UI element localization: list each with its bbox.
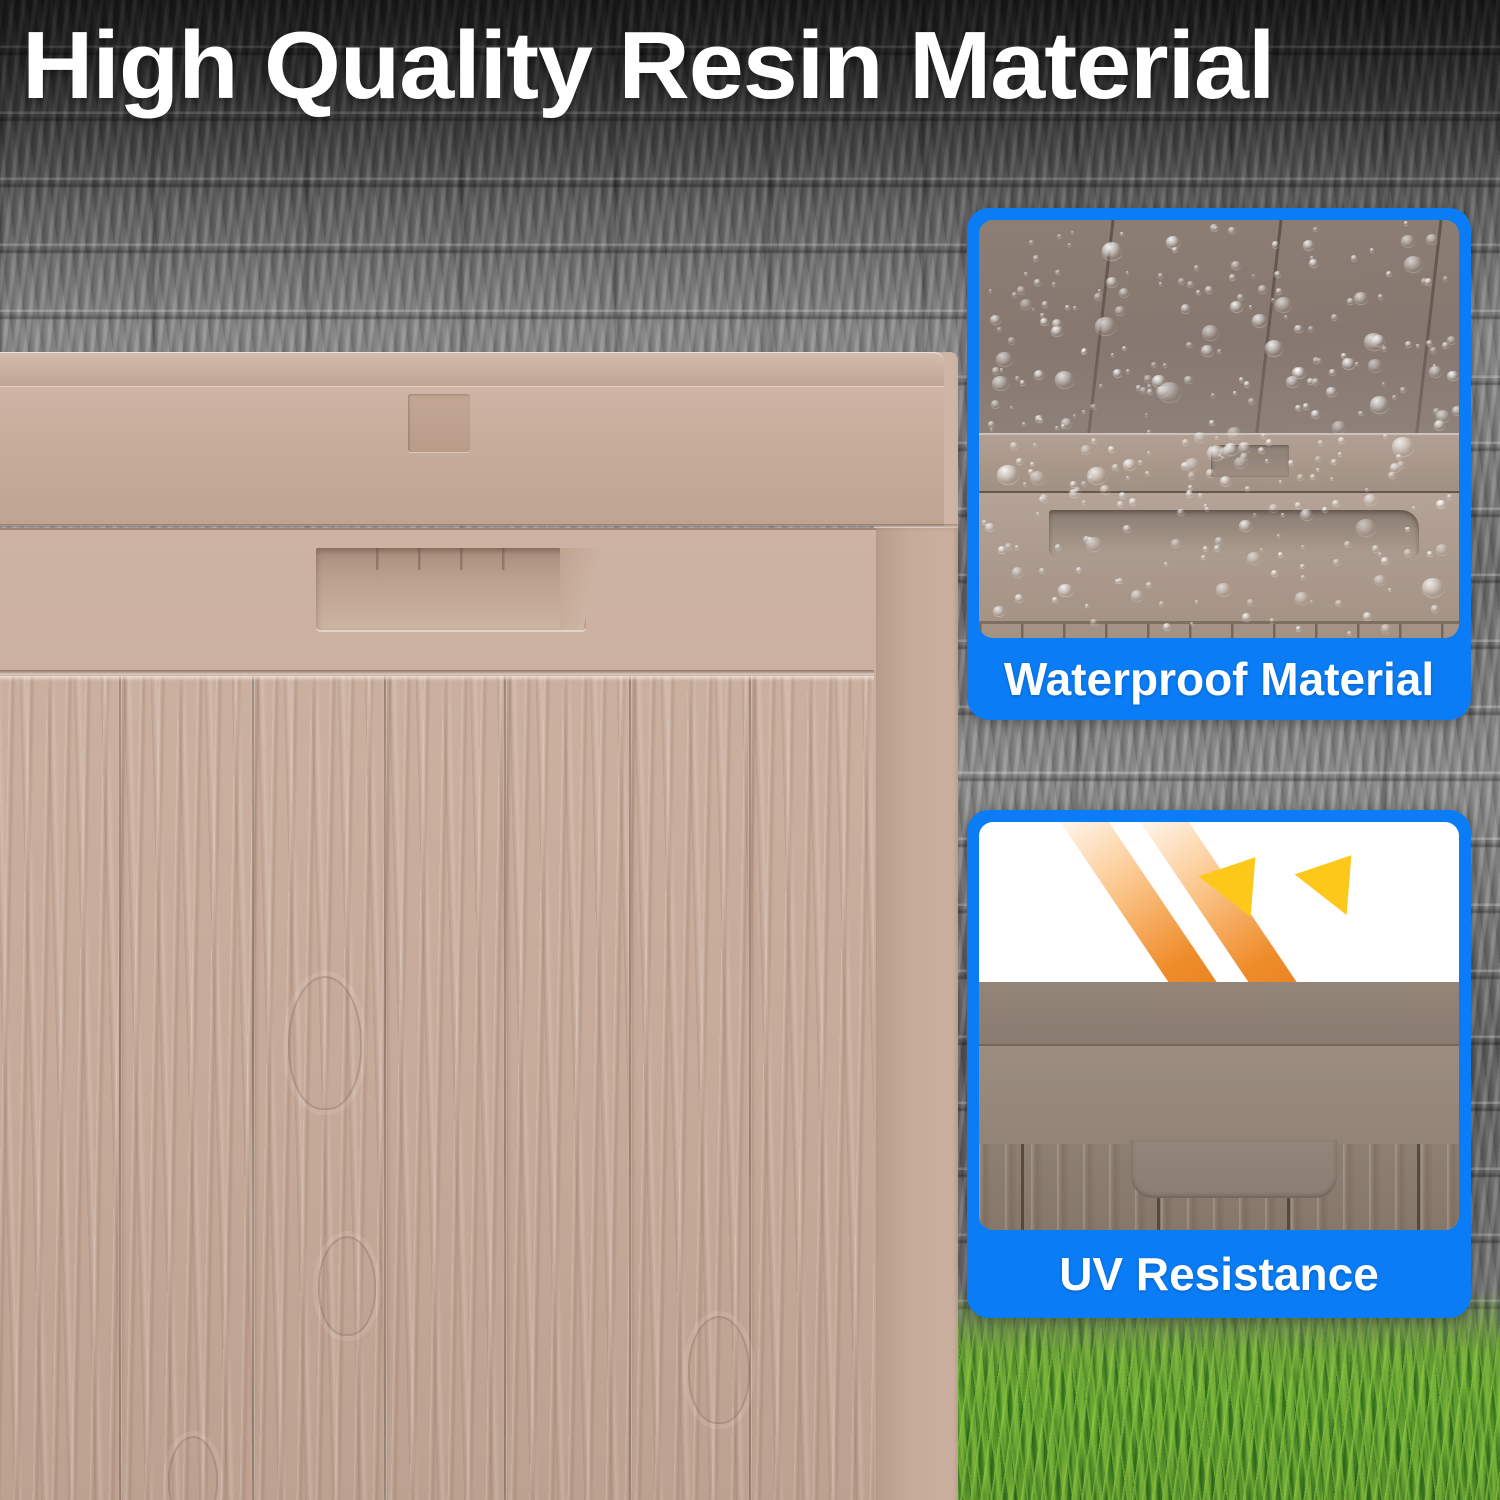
water-droplet [1201, 345, 1213, 356]
water-droplet [1039, 497, 1043, 501]
water-droplet [1166, 236, 1180, 248]
water-droplet [1233, 391, 1237, 395]
water-droplet [1242, 613, 1251, 621]
water-droplet [1016, 458, 1022, 463]
water-droplet [1082, 348, 1087, 352]
water-droplet [1431, 605, 1439, 612]
water-droplet [1427, 551, 1432, 556]
water-droplet [1270, 618, 1275, 622]
water-droplet [1129, 498, 1136, 504]
water-droplet [1095, 317, 1115, 335]
water-droplet [1218, 454, 1222, 457]
water-droplet [982, 520, 986, 524]
water-droplet [1206, 469, 1215, 477]
water-droplet [1297, 474, 1304, 480]
water-droplet [1271, 570, 1278, 576]
water-droplet [1201, 555, 1205, 559]
water-droplet [1404, 549, 1412, 556]
water-droplet [1265, 340, 1283, 356]
water-droplet [1386, 271, 1392, 276]
uv-plank-seam [1021, 1144, 1024, 1230]
water-droplet [1205, 507, 1209, 510]
water-droplet [1194, 265, 1200, 270]
water-droplet [1074, 487, 1081, 493]
water-droplet [1073, 306, 1076, 309]
wood-knot [318, 1236, 376, 1336]
water-droplet [1164, 562, 1168, 565]
water-droplet [1244, 381, 1251, 387]
water-droplet [1342, 358, 1354, 369]
water-droplet [1363, 612, 1372, 620]
water-droplet [1061, 424, 1066, 428]
water-droplet [1438, 500, 1445, 506]
water-droplet [1276, 288, 1283, 294]
water-droplet [1240, 453, 1248, 460]
water-droplet [1316, 468, 1320, 472]
water-droplet [1207, 445, 1225, 460]
water-droplet [1388, 588, 1391, 591]
water-droplet [1347, 298, 1353, 303]
water-droplet [1364, 494, 1377, 505]
plank [0, 676, 122, 1500]
water-droplet [1326, 387, 1336, 396]
water-droplet [1058, 584, 1073, 597]
plank [119, 676, 255, 1500]
water-droplet [1115, 306, 1125, 315]
water-droplet [1381, 624, 1391, 632]
water-droplet [1024, 272, 1027, 275]
water-droplet [1315, 456, 1321, 461]
deck-box-product [0, 352, 974, 1442]
uv-plank-seam [1417, 1144, 1420, 1230]
water-droplet [1374, 575, 1386, 586]
water-droplet [1269, 504, 1278, 512]
water-droplet [1313, 227, 1317, 231]
water-droplet [1070, 481, 1076, 487]
water-droplet [998, 546, 1006, 553]
water-droplet [1185, 458, 1200, 471]
water-droplet [1012, 567, 1023, 577]
water-droplet [1308, 326, 1314, 331]
lock-tab [408, 394, 470, 452]
water-droplet [1397, 461, 1405, 468]
water-droplet [1033, 443, 1037, 446]
water-droplet [1378, 294, 1384, 299]
water-droplet [1372, 545, 1379, 551]
plank [384, 676, 507, 1500]
water-droplet [996, 352, 1013, 366]
water-droplet [1203, 546, 1208, 551]
water-droplet [1217, 349, 1222, 353]
water-droplet [1181, 304, 1191, 312]
water-droplet [1358, 411, 1364, 416]
water-droplet [997, 465, 1019, 484]
water-droplet [1381, 557, 1389, 564]
water-droplet [1286, 376, 1299, 387]
water-droplet [1196, 290, 1201, 294]
water-droplet [1252, 314, 1267, 327]
plank [504, 676, 632, 1500]
water-droplet [1275, 297, 1292, 311]
water-droplet [1452, 406, 1459, 415]
water-droplet [985, 523, 995, 532]
water-droplet [1295, 502, 1302, 508]
box-lid-top [0, 352, 944, 388]
water-droplet [1055, 371, 1074, 387]
water-droplet [1310, 474, 1315, 479]
water-droplet [1195, 600, 1198, 603]
water-droplet [1436, 544, 1448, 555]
water-droplet [1404, 256, 1423, 272]
water-droplet [1030, 462, 1034, 466]
water-droplet [1296, 626, 1302, 631]
water-droplet [1145, 471, 1150, 475]
water-droplet [1231, 261, 1241, 269]
water-droplet [1303, 403, 1310, 409]
wood-knot [288, 976, 362, 1110]
wood-knot [688, 1316, 750, 1424]
water-droplet [1020, 380, 1025, 385]
water-droplet [1355, 362, 1358, 365]
water-droplet [1100, 485, 1110, 494]
water-droplet [1098, 289, 1101, 292]
water-droplet [1220, 476, 1231, 485]
water-droplet [1126, 369, 1130, 372]
water-droplet [1365, 488, 1369, 491]
water-droplet [1131, 590, 1144, 601]
water-droplet [1036, 512, 1040, 516]
water-droplet [1364, 333, 1383, 350]
water-droplet [1214, 545, 1220, 550]
water-droplet [1015, 376, 1020, 380]
water-droplet [1040, 313, 1045, 317]
water-droplet [1119, 288, 1129, 297]
water-droplet [993, 606, 1005, 616]
water-droplet [1272, 241, 1280, 247]
box-handle-ribs [376, 548, 516, 570]
water-droplet [1163, 623, 1171, 630]
water-droplet [1318, 440, 1323, 445]
water-droplet [1147, 430, 1151, 433]
water-droplet [1368, 359, 1383, 372]
water-droplet [1332, 421, 1346, 433]
feature-card-waterproof[interactable]: Waterproof Material [967, 208, 1471, 720]
water-droplet [1333, 559, 1340, 565]
water-droplet [1034, 279, 1040, 284]
product-feature-graphic: High Quality Resin Material [0, 0, 1500, 1500]
water-droplet [1102, 242, 1122, 260]
water-droplet [1356, 519, 1376, 536]
water-droplet [1015, 594, 1024, 601]
feature-card-uv[interactable]: UV Resistance [967, 810, 1471, 1318]
water-droplet [1034, 370, 1044, 379]
water-droplet [1090, 404, 1097, 410]
water-droplet [1073, 414, 1076, 417]
water-droplet [1370, 248, 1374, 252]
feature-card-label: UV Resistance [979, 1230, 1459, 1318]
uv-box-face [979, 1044, 1459, 1146]
water-droplet [1429, 366, 1442, 377]
water-droplet [1146, 582, 1152, 587]
box-side-panel [874, 528, 958, 1500]
water-droplet [988, 421, 995, 427]
water-droplet [1144, 375, 1151, 381]
water-droplet [1117, 578, 1123, 583]
water-droplet [1085, 604, 1089, 607]
water-droplet [1300, 564, 1305, 568]
water-droplet [1422, 578, 1444, 597]
water-droplet [1421, 278, 1428, 284]
uv-box-foot-cutout [1131, 1140, 1337, 1198]
water-droplet [1211, 393, 1215, 397]
water-droplet [1099, 384, 1102, 387]
uv-box-lid [979, 982, 1459, 1044]
water-droplet [1295, 592, 1309, 604]
water-droplet [1184, 376, 1193, 384]
water-droplet [1300, 509, 1313, 520]
water-droplet [1194, 432, 1205, 442]
water-droplet [1313, 357, 1319, 363]
plank-top-highlight [0, 676, 874, 681]
water-droplet [1260, 548, 1263, 551]
water-droplet [1123, 525, 1130, 531]
water-droplet [1332, 500, 1339, 506]
wood-grain-plank-wall [0, 676, 874, 1500]
water-droplet [1182, 439, 1189, 445]
box-lid-face [0, 386, 944, 526]
water-droplet [1088, 475, 1093, 480]
water-droplet [1301, 575, 1305, 579]
water-droplet [1227, 427, 1242, 440]
uv-photo [979, 822, 1459, 1230]
water-droplet [1159, 601, 1165, 606]
water-droplet [1388, 472, 1395, 478]
water-droplet [1171, 539, 1180, 547]
water-droplet [1112, 464, 1119, 470]
water-droplet [1430, 347, 1437, 353]
water-droplet [1404, 221, 1408, 224]
water-droplet [1028, 469, 1034, 474]
water-droplet [1055, 270, 1061, 275]
water-droplet [1123, 459, 1136, 470]
water-droplet [1012, 292, 1017, 296]
water-droplet [1094, 293, 1102, 300]
water-droplet [1311, 410, 1320, 418]
water-droplet [1274, 271, 1281, 277]
water-droplet [1216, 583, 1231, 596]
water-droplet [1338, 437, 1345, 443]
water-droplet [1238, 442, 1250, 453]
water-droplet [1331, 314, 1338, 320]
water-droplet [1147, 389, 1153, 394]
water-droplet [1017, 286, 1025, 293]
feature-card-label: Waterproof Material [979, 638, 1459, 720]
water-droplet [1117, 501, 1124, 507]
water-droplet [1215, 537, 1223, 544]
water-droplet [997, 327, 1002, 331]
water-droplet [1015, 545, 1019, 548]
water-droplet [1158, 273, 1163, 277]
water-droplet [1284, 315, 1288, 318]
water-droplet [1138, 460, 1143, 464]
lid-body-gap [0, 670, 874, 675]
water-droplet [1090, 619, 1097, 625]
water-droplet [1198, 493, 1202, 497]
water-droplet [1008, 337, 1016, 344]
waterproof-photo [979, 220, 1459, 638]
water-droplet [1382, 382, 1385, 385]
water-droplet [1230, 301, 1242, 312]
water-droplet [1331, 459, 1337, 464]
water-droplet [1322, 507, 1328, 512]
water-droplet [1052, 597, 1058, 602]
water-droplet [1082, 500, 1086, 504]
page-title: High Quality Resin Material [22, 16, 1500, 117]
water-droplet [1443, 276, 1448, 281]
water-droplet [1329, 369, 1336, 375]
water-droplet [1172, 247, 1178, 252]
plank [749, 676, 874, 1500]
water-droplet [1442, 342, 1449, 348]
water-droplet [1392, 395, 1397, 399]
water-droplet [1401, 235, 1415, 247]
water-droplet [1330, 477, 1334, 480]
water-droplet [1261, 433, 1267, 438]
water-droplet [1039, 568, 1044, 573]
water-droplet [1295, 405, 1302, 411]
